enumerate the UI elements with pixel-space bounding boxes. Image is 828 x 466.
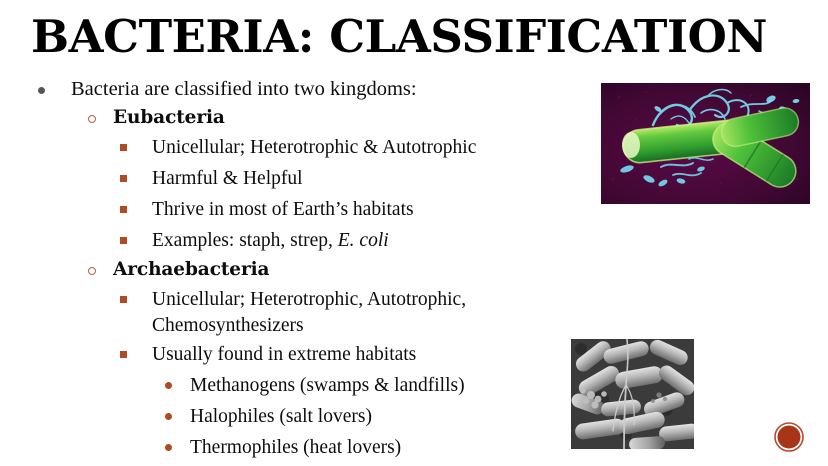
square-icon: [120, 284, 152, 315]
page-title: BACTERIA: CLASSIFICATION: [31, 10, 731, 64]
disc-accent-icon: [165, 401, 190, 432]
list-item-level3: Harmful & Helpful: [0, 163, 600, 194]
list-item-label: Halophiles (salt lovers): [190, 401, 600, 432]
square-icon: [120, 225, 152, 256]
ring-icon: [88, 256, 113, 283]
list-item-label: Harmful & Helpful: [152, 163, 600, 194]
list-item-level3-examples: Examples: staph, strep, E. coli: [0, 225, 600, 256]
list-item-level3: Thrive in most of Earth’s habitats: [0, 194, 600, 225]
examples-prefix: Examples: staph, strep,: [152, 230, 338, 251]
list-item-label: Examples: staph, strep, E. coli: [152, 225, 600, 256]
list-item-level4: Methanogens (swamps & landfills): [0, 370, 600, 401]
square-icon: [120, 339, 152, 370]
species-name-italic: E. coli: [338, 230, 389, 251]
list-item-label: Unicellular; Heterotrophic, Autotrophic,…: [152, 284, 600, 339]
eubacteria-micrograph: [601, 83, 810, 204]
square-icon: [120, 132, 152, 163]
decorative-circle: [774, 422, 804, 452]
list-item-level3: Unicellular; Heterotrophic & Autotrophic: [0, 132, 600, 163]
kingdom-label: Eubacteria: [113, 104, 600, 131]
ring-icon: [88, 104, 113, 131]
square-icon: [120, 163, 152, 194]
list-item-label: Usually found in extreme habitats: [152, 339, 600, 370]
kingdom-label: Archaebacteria: [113, 256, 600, 283]
list-item-label: Methanogens (swamps & landfills): [190, 370, 600, 401]
list-item-label: Thrive in most of Earth’s habitats: [152, 194, 600, 225]
list-item-level1: Bacteria are classified into two kingdom…: [0, 76, 600, 103]
slide-body: Bacteria are classified into two kingdom…: [0, 76, 600, 463]
list-item-label: Bacteria are classified into two kingdom…: [71, 76, 600, 103]
disc-gray-icon: [38, 76, 71, 103]
disc-accent-icon: [165, 370, 190, 401]
list-item-label: Thermophiles (heat lovers): [190, 432, 600, 463]
archaebacteria-micrograph: [571, 339, 694, 449]
list-item-label: Unicellular; Heterotrophic & Autotrophic: [152, 132, 600, 163]
list-item-level4: Halophiles (salt lovers): [0, 401, 600, 432]
square-icon: [120, 194, 152, 225]
list-item-level4: Thermophiles (heat lovers): [0, 432, 600, 463]
list-item-level3: Unicellular; Heterotrophic, Autotrophic,…: [0, 284, 600, 339]
list-item-kingdom-eubacteria: Eubacteria: [0, 104, 600, 131]
disc-accent-icon: [165, 432, 190, 463]
list-item-kingdom-archaebacteria: Archaebacteria: [0, 256, 600, 283]
list-item-level3: Usually found in extreme habitats: [0, 339, 600, 370]
